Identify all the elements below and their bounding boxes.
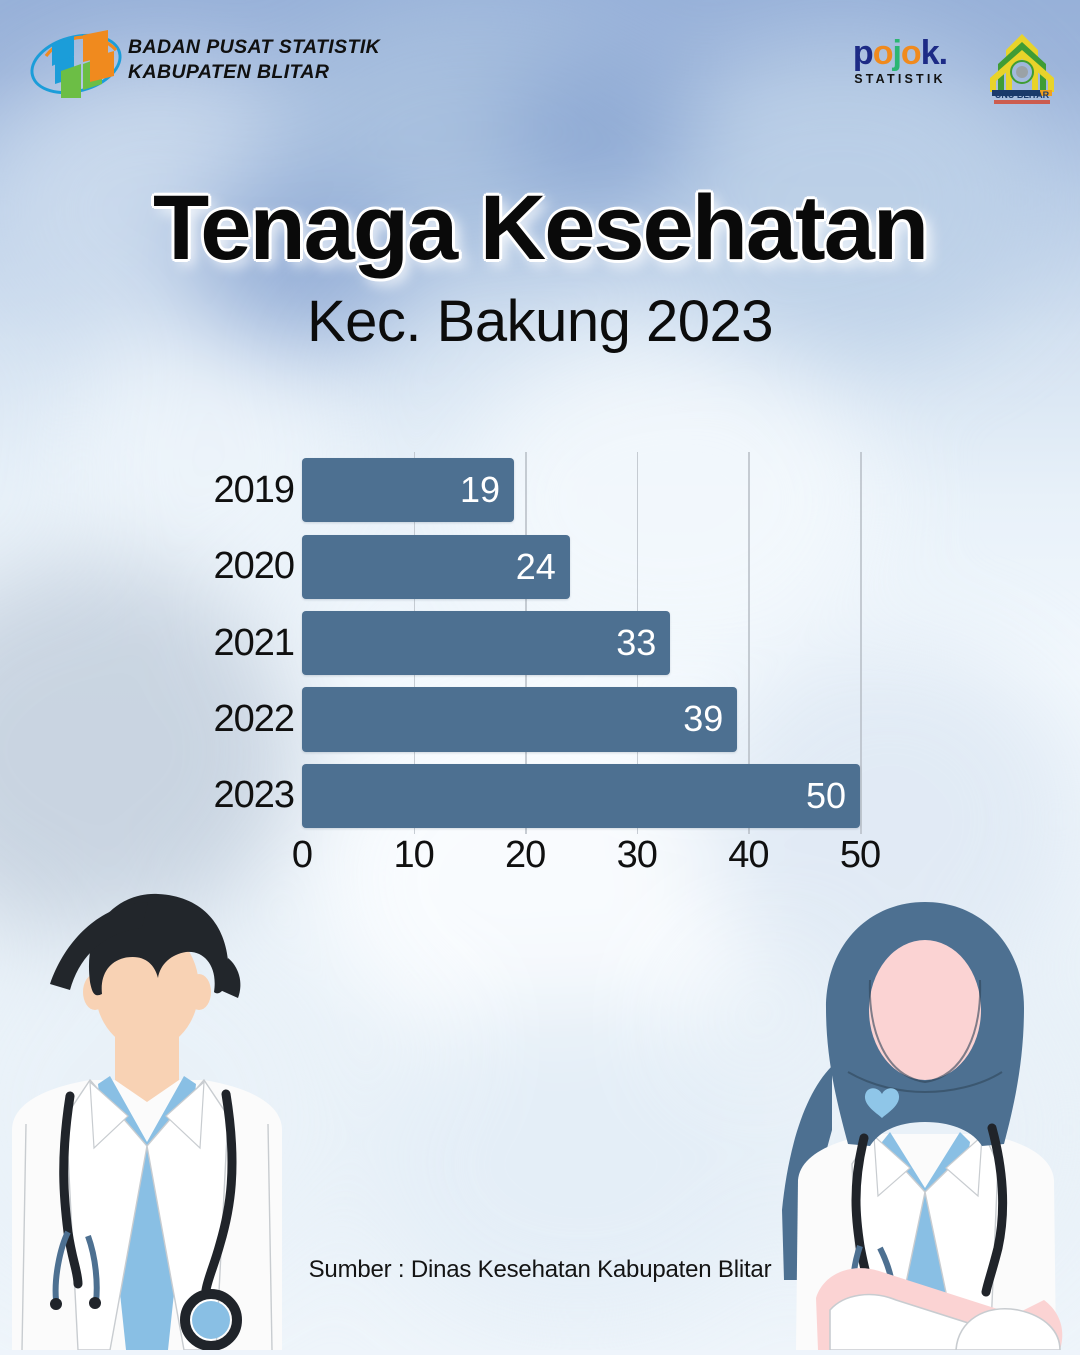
category-label-2019: 2019 — [190, 452, 294, 528]
x-tick-50: 50 — [840, 834, 880, 877]
x-tick-20: 20 — [505, 834, 545, 877]
category-label-2020: 2020 — [190, 528, 294, 604]
bar-value-2023: 50 — [806, 775, 860, 817]
pojok-letter-o2: o — [901, 34, 921, 72]
header: BADAN PUSAT STATISTIK KABUPATEN BLITAR p… — [0, 0, 1080, 120]
page-title: Tenaga Kesehatan — [0, 176, 1080, 281]
gridline-50 — [860, 452, 862, 834]
bar-2020[interactable]: 24 — [302, 535, 570, 599]
bar-2023[interactable]: 50 — [302, 764, 860, 828]
chart-plot-area: 1924333950 — [302, 452, 860, 834]
chart-category-labels: 20192020202120222023 — [190, 452, 294, 834]
svg-text:UNU BLITAR: UNU BLITAR — [995, 90, 1050, 100]
bar-row: 50 — [302, 758, 860, 834]
category-label-2023: 2023 — [190, 758, 294, 834]
unu-blitar-logo: UNU BLITAR — [980, 28, 1064, 108]
pojok-letter-p: p — [853, 34, 873, 72]
pojok-statistik-logo: pojok. STATISTIK — [845, 36, 955, 94]
chart-x-axis: 01020304050 — [302, 834, 860, 880]
bar-row: 33 — [302, 605, 860, 681]
x-tick-10: 10 — [393, 834, 433, 877]
pojok-wordmark: pojok. — [845, 36, 955, 70]
category-label-2021: 2021 — [190, 605, 294, 681]
pojok-letter-o1: o — [873, 34, 893, 72]
bps-line-1: BADAN PUSAT STATISTIK — [128, 35, 380, 60]
x-tick-40: 40 — [728, 834, 768, 877]
pojok-dot: . — [939, 34, 947, 72]
chart-bars: 1924333950 — [302, 452, 860, 834]
pojok-subtitle: STATISTIK — [845, 72, 955, 86]
bar-value-2019: 19 — [460, 469, 514, 511]
x-tick-30: 30 — [617, 834, 657, 877]
bar-2021[interactable]: 33 — [302, 611, 670, 675]
pojok-letter-j: j — [892, 34, 900, 72]
bar-2019[interactable]: 19 — [302, 458, 514, 522]
bar-row: 24 — [302, 528, 860, 604]
bar-value-2021: 33 — [616, 622, 670, 664]
bps-logo — [28, 26, 124, 100]
male-doctor-illustration — [0, 880, 312, 1350]
bps-org-name: BADAN PUSAT STATISTIK KABUPATEN BLITAR — [128, 35, 380, 85]
bar-row: 39 — [302, 681, 860, 757]
page-subtitle: Kec. Bakung 2023 — [0, 288, 1080, 355]
x-tick-0: 0 — [292, 834, 312, 877]
bps-line-2: KABUPATEN BLITAR — [128, 60, 380, 85]
bar-row: 19 — [302, 452, 860, 528]
female-doctor-illustration — [760, 880, 1080, 1350]
bar-value-2020: 24 — [516, 546, 570, 588]
category-label-2022: 2022 — [190, 681, 294, 757]
bar-value-2022: 39 — [683, 698, 737, 740]
pojok-letter-k: k — [921, 34, 939, 72]
bar-chart: 20192020202120222023 1924333950 01020304… — [0, 440, 1080, 870]
bar-2022[interactable]: 39 — [302, 687, 737, 751]
